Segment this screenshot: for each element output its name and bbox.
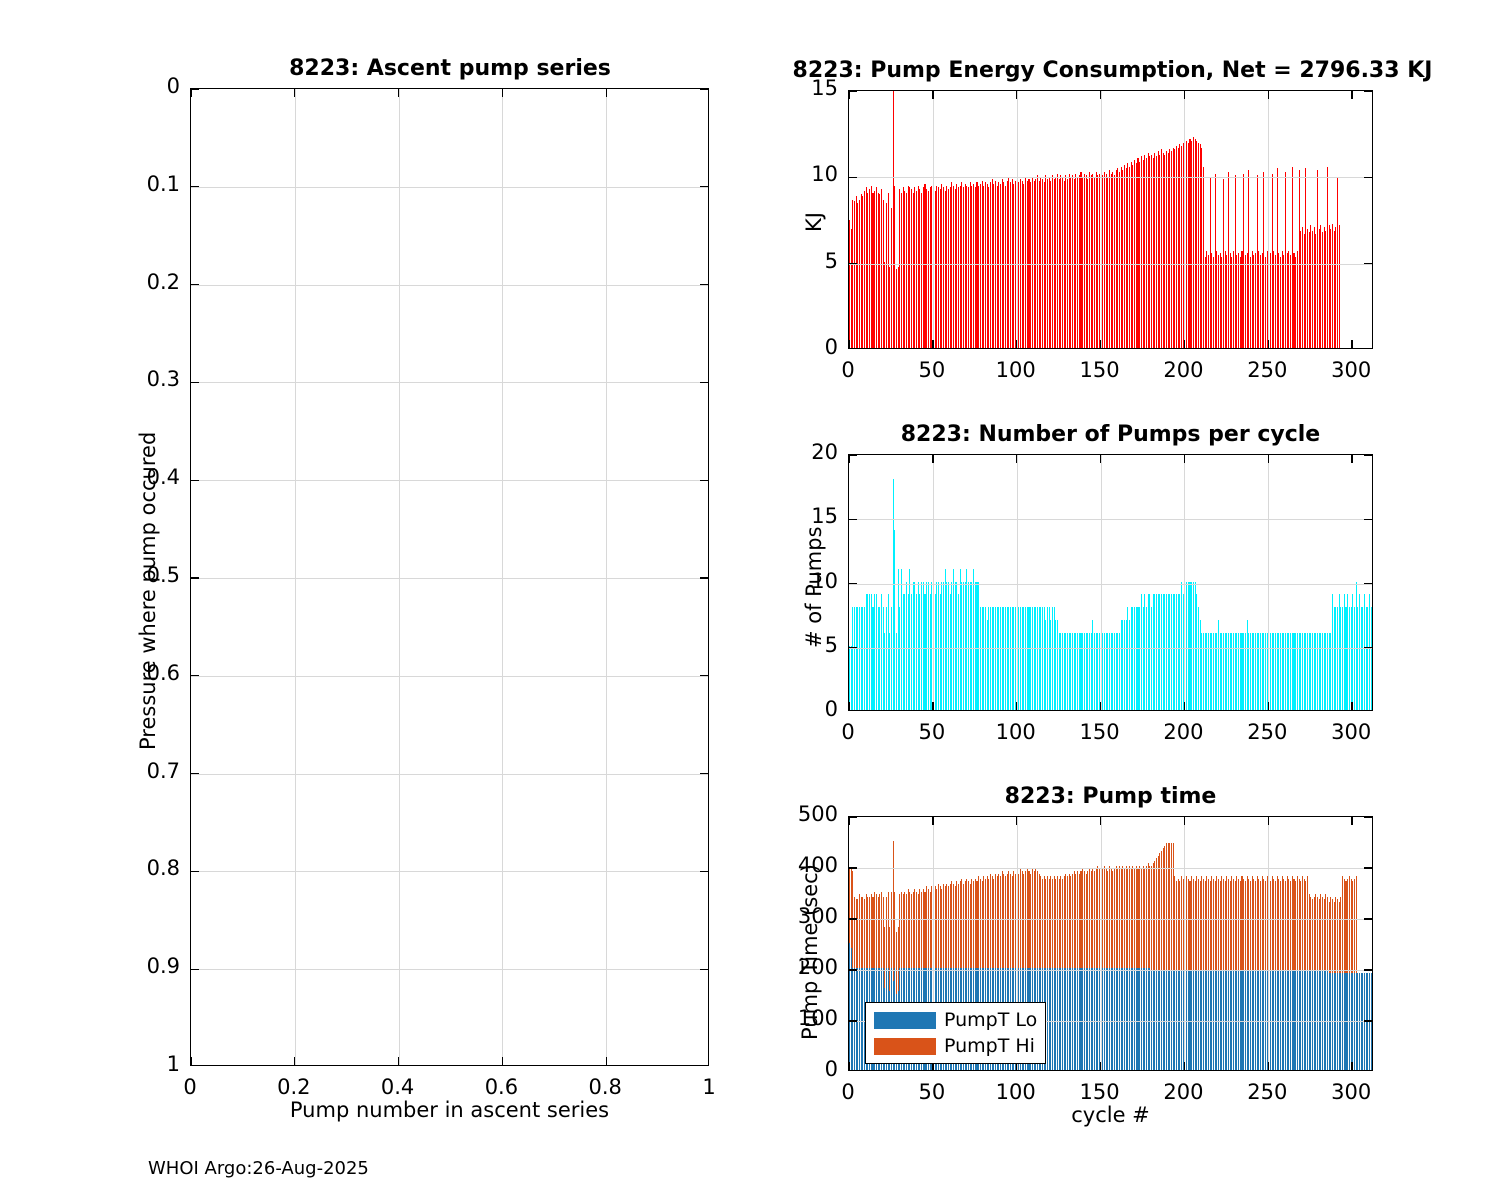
ascent-y-tickmark: [700, 675, 708, 676]
energy-x-tickmark: [1268, 91, 1269, 99]
pumptime-y-tickmark: [849, 918, 857, 919]
ascent-y-tickmark: [191, 186, 199, 187]
ascent-y-tickmark: [191, 871, 199, 872]
pumptime-x-tickmark: [1351, 817, 1352, 825]
pumps-x-tickmark: [1100, 455, 1101, 463]
pumps-y-tickmark: [1364, 583, 1372, 584]
energy-x-tick-label: 150: [1055, 358, 1145, 382]
energy-x-tickmark: [848, 340, 849, 348]
ascent-x-tick-label: 0.8: [560, 1075, 650, 1099]
ascent-x-tickmark: [502, 1057, 503, 1065]
pumps-y-tickmark: [1364, 647, 1372, 648]
pumps-plot-area[interactable]: [848, 454, 1373, 711]
ascent-y-tickmark: [191, 88, 199, 89]
energy-x-tickmark: [1351, 91, 1352, 99]
ascent-x-tickmark: [502, 89, 503, 97]
ascent-x-tickmark: [190, 89, 191, 97]
pumps-x-gridline: [1101, 455, 1102, 710]
footer-credit: WHOI Argo:26-Aug-2025: [148, 1158, 369, 1179]
energy-x-tickmark: [1100, 340, 1101, 348]
ascent-y-gridline: [191, 187, 708, 188]
energy-x-tickmark: [1184, 340, 1185, 348]
ascent-y-gridline: [191, 774, 708, 775]
energy-y-tickmark: [849, 263, 857, 264]
pumps-y-tickmark: [1364, 454, 1372, 455]
energy-y-tickmark: [1364, 177, 1372, 178]
pumptime-x-gridline: [1184, 817, 1185, 1070]
pumps-x-tickmark: [932, 455, 933, 463]
legend-label-pumpt-hi: PumpT Hi: [944, 1035, 1035, 1057]
energy-y-gridline: [849, 264, 1372, 265]
pumptime-y-tickmark: [1364, 1020, 1372, 1021]
ascent-y-gridline: [191, 285, 708, 286]
pumps-x-gridline: [1184, 455, 1185, 710]
ascent-y-tick-label: 0.7: [112, 759, 180, 783]
pumptime-panel-title: 8223: Pump time: [848, 784, 1373, 809]
pumptime-x-tick-label: 0: [803, 1080, 893, 1104]
pumptime-x-tick-label: 200: [1138, 1080, 1228, 1104]
pumps-x-tick-label: 150: [1055, 720, 1145, 744]
energy-x-gridline: [933, 91, 934, 348]
pumps-x-tick-label: 50: [887, 720, 977, 744]
ascent-y-tick-label: 0.3: [112, 367, 180, 391]
energy-x-tick-label: 250: [1222, 358, 1312, 382]
pumptime-y-tickmark: [1364, 816, 1372, 817]
ascent-x-gridline: [606, 89, 607, 1065]
pumps-y-tick-label: 15: [770, 504, 838, 528]
pumps-y-gridline: [849, 648, 1372, 649]
energy-x-tick-label: 0: [803, 358, 893, 382]
pumps-x-tick-label: 100: [971, 720, 1061, 744]
energy-y-tick-label: 0: [770, 335, 838, 359]
pumps-y-gridline: [849, 519, 1372, 520]
ascent-x-tickmark: [294, 89, 295, 97]
energy-x-tickmark: [1351, 340, 1352, 348]
pumptime-y-tickmark: [849, 1020, 857, 1021]
ascent-y-tickmark: [700, 284, 708, 285]
ascent-y-tickmark: [700, 969, 708, 970]
ascent-x-tickmark: [606, 1057, 607, 1065]
legend-swatch-pumpt-hi: [874, 1038, 936, 1055]
pumptime-y-gridline: [849, 919, 1372, 920]
pumptime-y-tickmark: [1364, 969, 1372, 970]
pumptime-y-tickmark: [849, 816, 857, 817]
pumps-x-tickmark: [1016, 702, 1017, 710]
ascent-x-axis-label: Pump number in ascent series: [190, 1098, 709, 1122]
pumps-bar: [1372, 607, 1373, 710]
pumptime-y-tickmark: [849, 969, 857, 970]
pumps-y-tick-label: 0: [770, 697, 838, 721]
ascent-x-tick-label: 0: [145, 1075, 235, 1099]
ascent-x-gridline: [399, 89, 400, 1065]
energy-bar: [1339, 225, 1340, 348]
pumptime-x-tickmark: [1184, 817, 1185, 825]
pumps-x-gridline: [933, 455, 934, 710]
ascent-y-gridline: [191, 480, 708, 481]
ascent-y-tickmark: [700, 186, 708, 187]
pumptime-y-gridline: [849, 868, 1372, 869]
energy-x-tick-label: 50: [887, 358, 977, 382]
pumptime-y-tickmark: [1364, 867, 1372, 868]
legend-item-pumpt-lo[interactable]: PumpT Lo: [874, 1009, 1037, 1031]
ascent-y-tickmark: [700, 382, 708, 383]
pumptime-x-tickmark: [1268, 1062, 1269, 1070]
energy-y-tickmark: [849, 90, 857, 91]
ascent-y-tick-label: 1: [112, 1052, 180, 1076]
ascent-x-tick-label: 0.4: [353, 1075, 443, 1099]
pumps-y-tickmark: [849, 583, 857, 584]
ascent-panel-title: 8223: Ascent pump series: [190, 56, 710, 81]
ascent-x-tickmark: [606, 89, 607, 97]
energy-y-tick-label: 15: [770, 76, 838, 100]
ascent-x-tickmark: [398, 89, 399, 97]
pumptime-x-tick-label: 300: [1306, 1080, 1396, 1104]
energy-x-gridline: [1268, 91, 1269, 348]
ascent-y-gridline: [191, 969, 708, 970]
pumptime-x-tickmark: [848, 1062, 849, 1070]
ascent-plot-area[interactable]: [190, 88, 709, 1066]
pumptime-x-tick-label: 100: [971, 1080, 1061, 1104]
pumps-x-tickmark: [1100, 702, 1101, 710]
pumps-x-gridline: [1017, 455, 1018, 710]
ascent-x-tick-label: 0.2: [249, 1075, 339, 1099]
energy-y-tick-label: 10: [770, 162, 838, 186]
energy-y-axis-label: KJ: [802, 212, 826, 232]
ascent-y-gridline: [191, 676, 708, 677]
pumps-x-tickmark: [1268, 455, 1269, 463]
ascent-y-tickmark: [191, 577, 199, 578]
pumps-x-tick-label: 200: [1138, 720, 1228, 744]
pumps-x-tickmark: [848, 455, 849, 463]
pumptime-y-tickmark: [849, 867, 857, 868]
pumps-y-tickmark: [849, 647, 857, 648]
pumptime-x-tickmark: [1100, 1062, 1101, 1070]
ascent-y-gridline: [191, 382, 708, 383]
ascent-y-tick-label: 0.2: [112, 270, 180, 294]
legend-swatch-pumpt-lo: [874, 1012, 936, 1029]
ascent-x-tickmark: [190, 1057, 191, 1065]
ascent-y-tickmark: [700, 480, 708, 481]
energy-x-tickmark: [1016, 91, 1017, 99]
ascent-y-tickmark: [191, 773, 199, 774]
pumptime-x-tickmark: [932, 817, 933, 825]
pumps-y-tickmark: [1364, 519, 1372, 520]
energy-x-tickmark: [1184, 91, 1185, 99]
ascent-y-tickmark: [191, 675, 199, 676]
pumptime-y-tickmark: [1364, 918, 1372, 919]
pumps-y-tickmark: [849, 519, 857, 520]
pumps-x-tickmark: [1016, 455, 1017, 463]
pumps-y-gridline: [849, 584, 1372, 585]
ascent-y-axis-label: Pressure where pump occured: [136, 432, 160, 750]
pumps-x-tick-label: 300: [1306, 720, 1396, 744]
ascent-y-tick-label: 0.1: [112, 172, 180, 196]
ascent-x-tickmark: [398, 1057, 399, 1065]
legend-item-pumpt-hi[interactable]: PumpT Hi: [874, 1035, 1037, 1057]
pumps-x-tick-label: 250: [1222, 720, 1312, 744]
ascent-x-gridline: [502, 89, 503, 1065]
ascent-y-tickmark: [700, 577, 708, 578]
pumptime-x-axis-label: cycle #: [848, 1103, 1373, 1127]
ascent-y-tick-label: 0.9: [112, 954, 180, 978]
pumptime-x-tickmark: [1100, 817, 1101, 825]
energy-y-gridline: [849, 177, 1372, 178]
pumps-x-tick-label: 0: [803, 720, 893, 744]
pumptime-y-gridline: [849, 970, 1372, 971]
energy-x-gridline: [1184, 91, 1185, 348]
energy-x-gridline: [1101, 91, 1102, 348]
energy-plot-area[interactable]: [848, 90, 1373, 349]
energy-x-tickmark: [1100, 91, 1101, 99]
pumps-y-tick-label: 20: [770, 440, 838, 464]
pumps-x-tickmark: [1184, 702, 1185, 710]
pumps-y-axis-label: # of Pumps: [802, 526, 826, 648]
pumptime-y-axis-label: Pump Time (sec): [798, 864, 822, 1040]
pumptime-x-tickmark: [1184, 1062, 1185, 1070]
pumptime-x-gridline: [1101, 817, 1102, 1070]
pumptime-x-tickmark: [1268, 817, 1269, 825]
ascent-y-tickmark: [191, 284, 199, 285]
ascent-x-tick-label: 0.6: [456, 1075, 546, 1099]
energy-y-tickmark: [1364, 263, 1372, 264]
energy-x-tickmark: [932, 340, 933, 348]
ascent-y-tick-label: 0: [112, 74, 180, 98]
ascent-y-tickmark: [700, 871, 708, 872]
pumptime-plot-area[interactable]: PumpT Lo PumpT Hi: [848, 816, 1373, 1071]
energy-x-tickmark: [1268, 340, 1269, 348]
pumptime-x-tick-label: 150: [1055, 1080, 1145, 1104]
energy-y-tick-label: 5: [770, 249, 838, 273]
ascent-y-tickmark: [191, 969, 199, 970]
pumptime-x-tickmark: [1016, 817, 1017, 825]
ascent-y-gridline: [191, 871, 708, 872]
energy-x-tick-label: 100: [971, 358, 1061, 382]
pumptime-y-tick-label: 500: [770, 802, 838, 826]
ascent-x-gridline: [295, 89, 296, 1065]
pumps-x-tickmark: [1268, 702, 1269, 710]
energy-x-tickmark: [932, 91, 933, 99]
pumptime-legend[interactable]: PumpT Lo PumpT Hi: [865, 1002, 1046, 1064]
energy-y-tickmark: [849, 177, 857, 178]
pumptime-x-tickmark: [1351, 1062, 1352, 1070]
ascent-x-tick-label: 1: [664, 1075, 754, 1099]
pumptime-y-tick-label: 0: [770, 1057, 838, 1081]
pumptime-x-tickmark: [848, 817, 849, 825]
ascent-y-tickmark: [191, 480, 199, 481]
ascent-y-tickmark: [700, 773, 708, 774]
pumps-x-tickmark: [932, 702, 933, 710]
pumpt-lo-segment: [1372, 973, 1373, 1070]
energy-x-tickmark: [848, 91, 849, 99]
energy-panel-title: 8223: Pump Energy Consumption, Net = 279…: [740, 58, 1485, 83]
pumptime-x-gridline: [1268, 817, 1269, 1070]
pumps-y-tickmark: [849, 454, 857, 455]
energy-x-tick-label: 200: [1138, 358, 1228, 382]
pumps-x-gridline: [1268, 455, 1269, 710]
pumps-panel-title: 8223: Number of Pumps per cycle: [848, 422, 1373, 447]
ascent-y-gridline: [191, 578, 708, 579]
energy-x-tickmark: [1016, 340, 1017, 348]
energy-x-gridline: [1017, 91, 1018, 348]
pumps-x-tickmark: [1351, 455, 1352, 463]
pumps-x-tickmark: [848, 702, 849, 710]
pumptime-x-tick-label: 250: [1222, 1080, 1312, 1104]
pumps-x-tickmark: [1184, 455, 1185, 463]
energy-x-tick-label: 300: [1306, 358, 1396, 382]
energy-y-tickmark: [1364, 90, 1372, 91]
ascent-x-tickmark: [294, 1057, 295, 1065]
legend-label-pumpt-lo: PumpT Lo: [944, 1009, 1037, 1031]
pumptime-x-tick-label: 50: [887, 1080, 977, 1104]
ascent-y-tickmark: [191, 382, 199, 383]
ascent-y-tickmark: [700, 88, 708, 89]
ascent-y-tick-label: 0.8: [112, 856, 180, 880]
pumps-x-tickmark: [1351, 702, 1352, 710]
pumpt-hi-segment: [1356, 876, 1357, 973]
